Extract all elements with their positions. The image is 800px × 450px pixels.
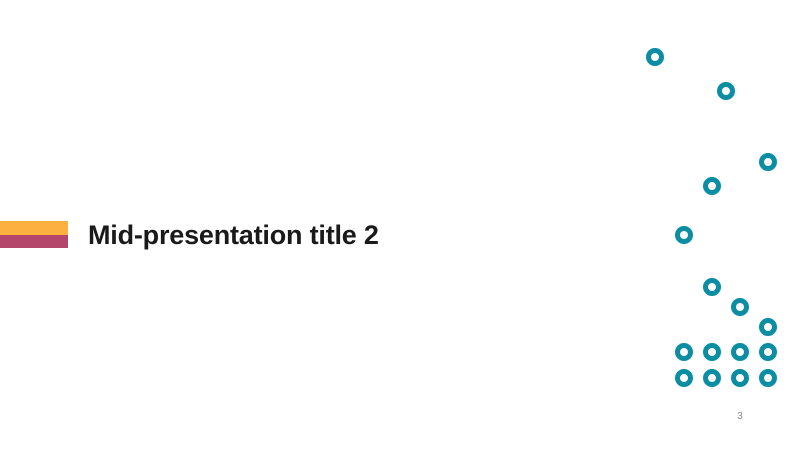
decorative-dot xyxy=(731,343,749,361)
page-number: 3 xyxy=(728,411,752,423)
decorative-dot xyxy=(646,48,664,66)
decorative-dot xyxy=(759,369,777,387)
decorative-dot xyxy=(703,343,721,361)
decorative-dot xyxy=(675,343,693,361)
presentation-slide: Mid-presentation title 2 3 xyxy=(0,0,800,450)
decorative-dot xyxy=(675,369,693,387)
decorative-dot xyxy=(703,177,721,195)
decorative-dot xyxy=(703,369,721,387)
accent-bar-top-band xyxy=(0,221,68,235)
decorative-dot xyxy=(731,298,749,316)
accent-bar-bottom-band xyxy=(0,235,68,249)
decorative-dot xyxy=(759,318,777,336)
decorative-dot xyxy=(731,369,749,387)
decorative-dot xyxy=(759,153,777,171)
decorative-dot xyxy=(759,343,777,361)
decorative-dot xyxy=(717,82,735,100)
page-title: Mid-presentation title 2 xyxy=(88,219,568,251)
decorative-dot xyxy=(675,226,693,244)
decorative-dot xyxy=(703,278,721,296)
accent-bar xyxy=(0,221,68,248)
